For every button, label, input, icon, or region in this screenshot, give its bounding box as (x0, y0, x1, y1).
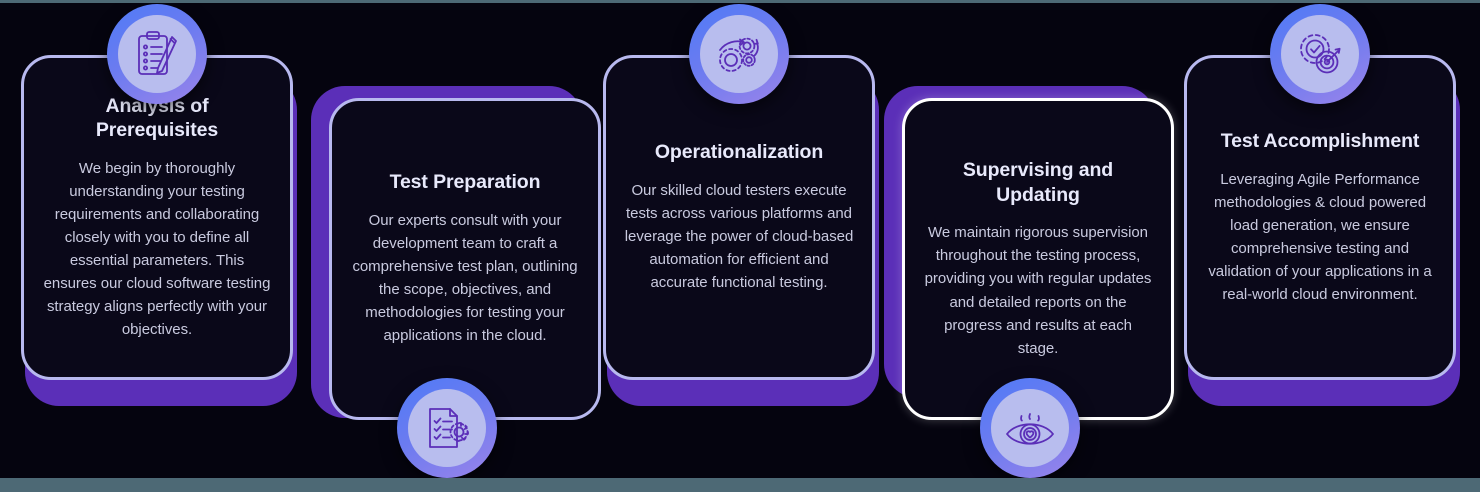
card-title: Supervising and Updating (923, 158, 1153, 207)
top-edge-strip (0, 0, 1480, 3)
card-panel[interactable]: Supervising and Updating We maintain rig… (902, 98, 1174, 420)
bottom-edge-strip (0, 478, 1480, 492)
process-steps-section: Analysis of Prerequisites We begin by th… (0, 0, 1480, 492)
card-title: Test Accomplishment (1221, 129, 1420, 154)
card-title: Test Preparation (390, 170, 541, 195)
card-body: Leveraging Agile Performance methodologi… (1205, 168, 1435, 307)
card-title: Operationalization (655, 140, 823, 165)
card-body: Our skilled cloud testers execute tests … (624, 179, 854, 294)
card-body: We begin by thoroughly understanding you… (42, 157, 272, 342)
card-body: We maintain rigorous supervision through… (923, 221, 1153, 360)
card-body: Our experts consult with your developmen… (350, 209, 580, 348)
clipboard-pen-icon (107, 4, 207, 104)
card-panel[interactable]: Test Preparation Our experts consult wit… (329, 98, 601, 420)
eye-monitoring-icon (980, 378, 1080, 478)
gears-automation-icon (689, 4, 789, 104)
checklist-gear-icon (397, 378, 497, 478)
gear-check-target-icon (1270, 4, 1370, 104)
